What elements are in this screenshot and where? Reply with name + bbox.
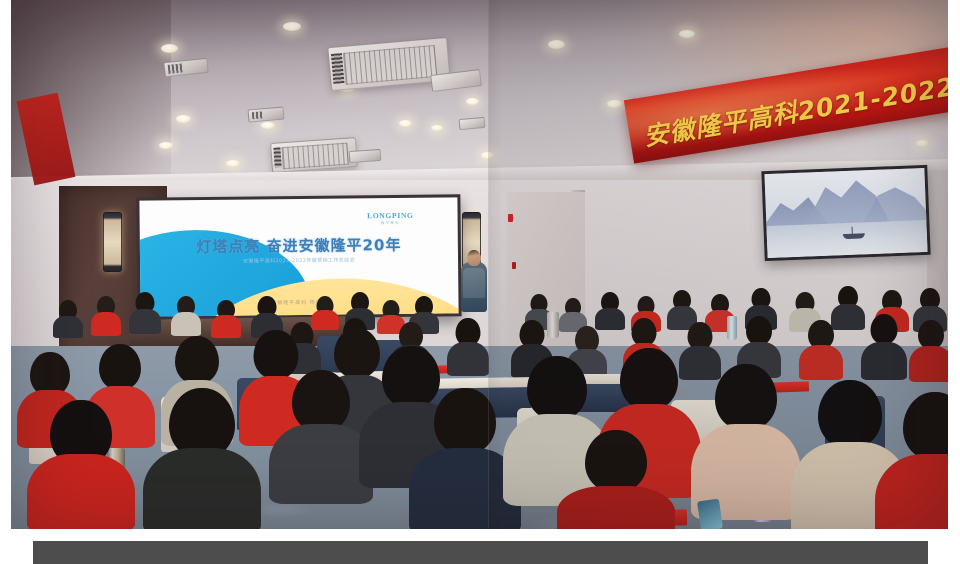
wall-sconce-lamp [103, 212, 122, 272]
ac-grille [281, 143, 348, 170]
person-body [27, 454, 135, 529]
person-head [715, 364, 777, 430]
person-head [918, 320, 944, 349]
person-head [175, 336, 219, 384]
exit-sign-icon [512, 262, 516, 269]
downlight-icon [431, 125, 443, 131]
person-head [871, 314, 898, 344]
person-body [211, 315, 241, 338]
audience-person-foreground [875, 392, 948, 529]
audience-person [595, 292, 625, 330]
downlight-icon [481, 152, 494, 159]
slide-logo-subtext: 隆平高科 [367, 220, 413, 225]
downlight-icon [399, 120, 412, 127]
person-body [269, 424, 373, 504]
slide-logo-text: LONGPING [367, 211, 414, 220]
person-head [620, 348, 678, 410]
ceiling-vent [459, 117, 486, 130]
slide-logo: LONGPING 隆平高科 [367, 211, 414, 225]
audience-person [53, 300, 83, 338]
exit-sign-icon [508, 214, 513, 222]
audience-person [211, 300, 241, 338]
person-head [527, 356, 587, 420]
speaker-vest [463, 268, 485, 298]
audience-person-foreground [27, 400, 135, 529]
downlight-icon [283, 22, 301, 31]
ac-grille [343, 45, 437, 85]
downlight-icon [466, 98, 479, 105]
slide-title: 灯塔点亮 奋进安徽隆平20年 [140, 233, 458, 257]
conference-hall-photo: LONGPING 隆平高科 灯塔点亮 奋进安徽隆平20年 安徽隆平高科2021-… [11, 0, 948, 529]
person-body [171, 312, 201, 336]
ceiling-vent [349, 149, 382, 163]
downlight-icon [607, 100, 622, 108]
ac-cassette-unit [270, 137, 358, 173]
audience-person [129, 292, 161, 334]
audience-person-foreground [557, 430, 675, 529]
page-root: LONGPING 隆平高科 灯塔点亮 奋进安徽隆平20年 安徽隆平高科2021-… [0, 0, 960, 564]
person-body [143, 448, 261, 529]
audience-person-foreground [143, 388, 261, 529]
person-head [585, 430, 647, 492]
audience-person [861, 314, 907, 380]
landscape-painting [761, 165, 930, 261]
person-head [746, 316, 772, 345]
person-head [818, 380, 882, 448]
audience-person-foreground [691, 364, 801, 520]
person-body [799, 345, 843, 380]
person-body [91, 312, 121, 336]
audience-person-foreground [269, 370, 373, 504]
person-body [53, 316, 83, 338]
audience-person [909, 320, 948, 382]
person-body [875, 454, 948, 529]
downlight-icon [548, 40, 565, 49]
person-body [129, 309, 161, 334]
audience-person [171, 296, 201, 336]
downlight-icon [916, 140, 929, 147]
smartphone [697, 499, 723, 529]
ac-louver [273, 147, 282, 168]
person-head [434, 388, 496, 454]
water-bottle [727, 316, 737, 340]
thermos-flask [547, 312, 559, 338]
person-body [557, 486, 675, 529]
downlight-icon [159, 142, 173, 149]
downlight-icon [161, 44, 178, 53]
downlight-icon [679, 30, 695, 38]
person-body [861, 342, 907, 380]
caption-bar [33, 541, 928, 564]
person-body [909, 346, 948, 382]
person-head [292, 370, 350, 432]
person-head [99, 344, 141, 390]
audience-person [799, 320, 843, 380]
downlight-icon [226, 160, 240, 167]
downlight-icon [261, 122, 275, 129]
audience-person [91, 296, 121, 336]
downlight-icon [176, 115, 191, 123]
person-head [903, 392, 948, 460]
speaker-head [467, 250, 481, 266]
person-head [632, 318, 657, 346]
